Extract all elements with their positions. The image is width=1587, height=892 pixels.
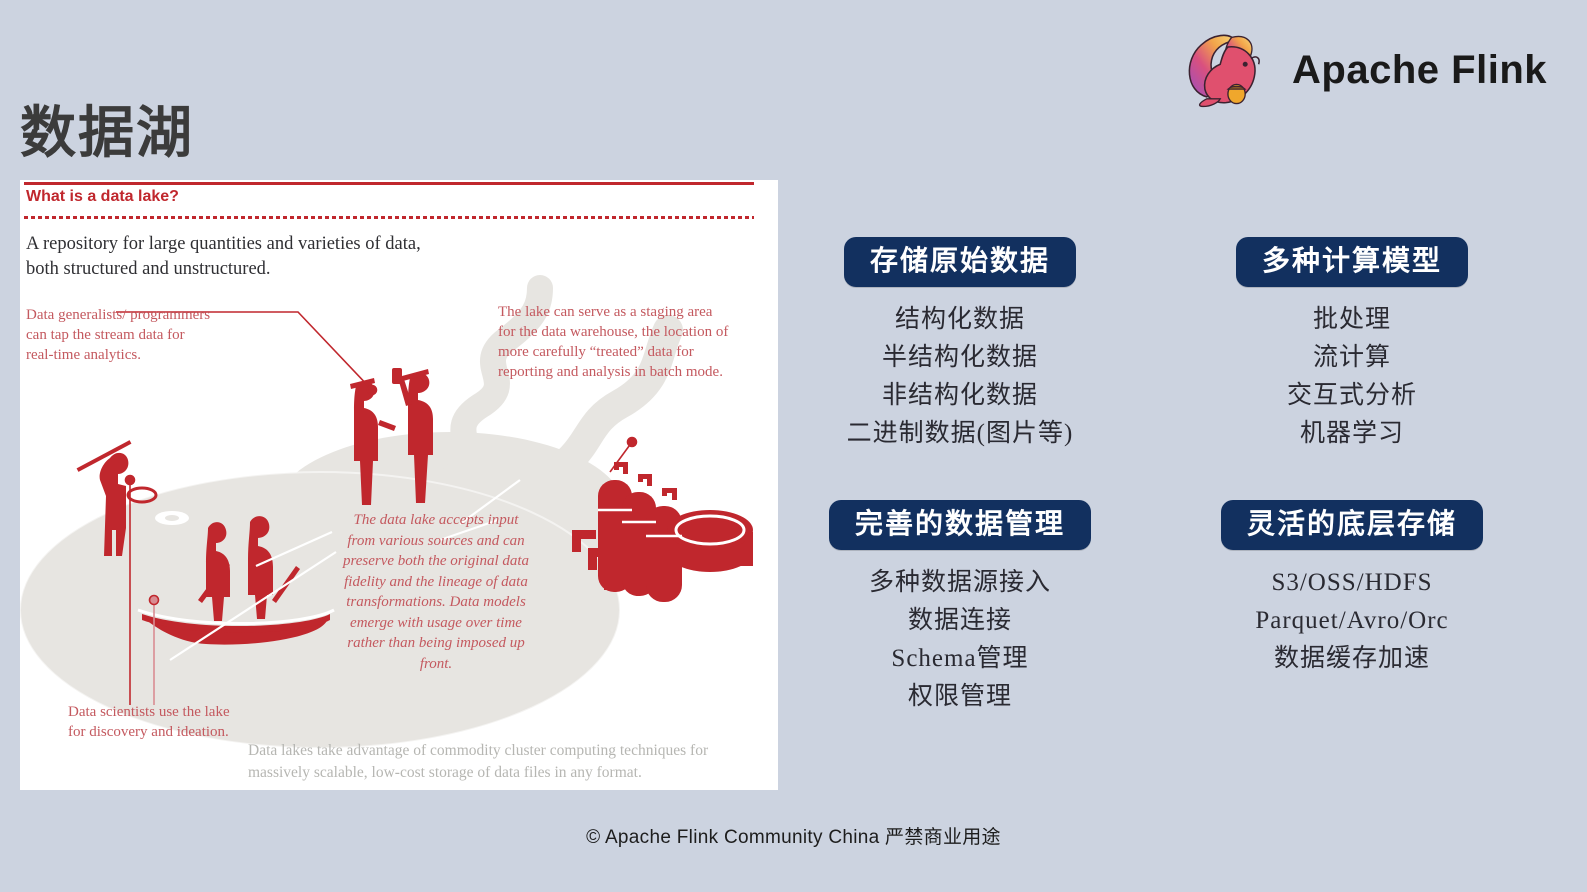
feature-panel-flexible-storage: 灵活的底层存储 S3/OSS/HDFS Parquet/Avro/Orc 数据缓… [1182,500,1522,678]
list-item: 结构化数据 [790,301,1130,339]
infographic-lede: A repository for large quantities and va… [26,232,446,282]
note-data-scientists: Data scientists use the lake for discove… [68,702,238,742]
list-item: 非结构化数据 [790,377,1130,415]
flink-squirrel-logo-icon [1178,22,1274,118]
page-title: 数据湖 [20,104,194,163]
list-item: 多种数据源接入 [790,564,1130,602]
panel-title-badge: 完善的数据管理 [829,500,1091,550]
brand-name: Apache Flink [1292,48,1547,93]
list-item: 批处理 [1182,301,1522,339]
list-item: 数据连接 [790,602,1130,640]
list-item: Schema管理 [790,640,1130,678]
panel-item-list: 多种数据源接入 数据连接 Schema管理 权限管理 [790,564,1130,716]
feature-panel-data-management: 完善的数据管理 多种数据源接入 数据连接 Schema管理 权限管理 [790,500,1130,716]
list-item: S3/OSS/HDFS [1182,564,1522,602]
brand-header: Apache Flink [1178,22,1547,118]
note-data-lake-accepts: The data lake accepts input from various… [340,510,532,674]
panel-title-badge: 多种计算模型 [1236,237,1468,287]
feature-panel-compute-models: 多种计算模型 批处理 流计算 交互式分析 机器学习 [1182,237,1522,453]
list-item: 权限管理 [790,678,1130,716]
infographic-heading: What is a data lake? [26,188,179,206]
panel-item-list: S3/OSS/HDFS Parquet/Avro/Orc 数据缓存加速 [1182,564,1522,678]
panel-item-list: 批处理 流计算 交互式分析 机器学习 [1182,301,1522,453]
panel-item-list: 结构化数据 半结构化数据 非结构化数据 二进制数据(图片等) [790,301,1130,453]
note-staging-area: The lake can serve as a staging area for… [498,302,733,382]
copyright-footer: © Apache Flink Community China 严禁商业用途 [0,822,1587,849]
infographic-footnote: Data lakes take advantage of commodity c… [248,740,756,783]
top-rule [24,182,754,185]
list-item: 流计算 [1182,339,1522,377]
list-item: 半结构化数据 [790,339,1130,377]
list-item: 机器学习 [1182,415,1522,453]
note-data-generalists: Data generalists/ programmers can tap th… [26,305,211,365]
list-item: 数据缓存加速 [1182,640,1522,678]
data-lake-infographic: What is a data lake? A repository for la… [20,180,778,790]
panel-title-badge: 灵活的底层存储 [1221,500,1483,550]
panel-title-badge: 存储原始数据 [844,237,1076,287]
feature-panel-store-raw-data: 存储原始数据 结构化数据 半结构化数据 非结构化数据 二进制数据(图片等) [790,237,1130,453]
list-item: 二进制数据(图片等) [790,415,1130,453]
list-item: Parquet/Avro/Orc [1182,602,1522,640]
dotted-rule [24,216,754,219]
list-item: 交互式分析 [1182,377,1522,415]
